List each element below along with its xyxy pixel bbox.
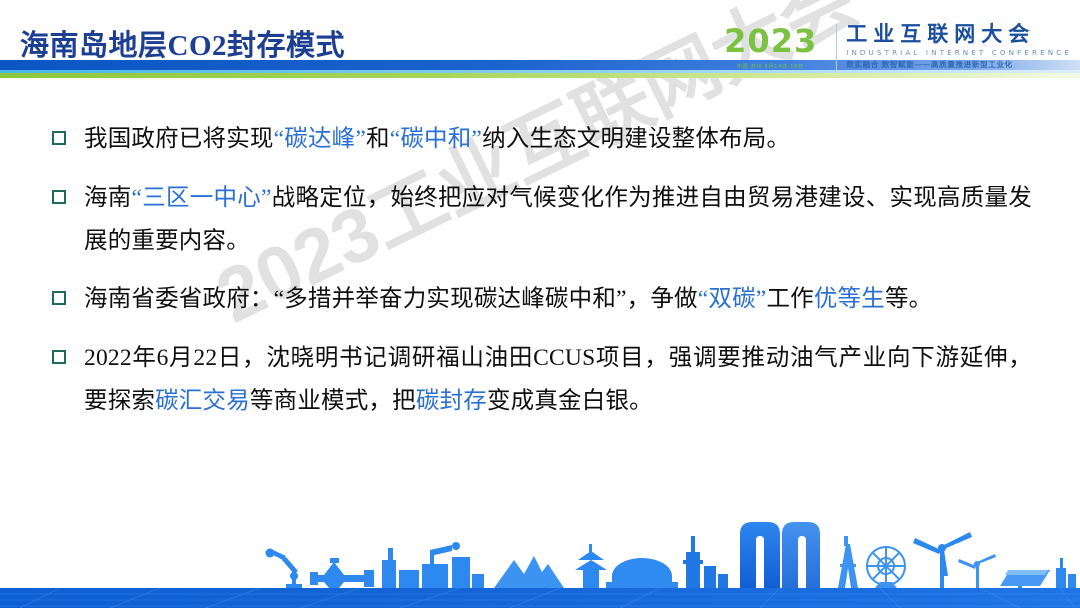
bullet-list: 我国政府已将实现“碳达峰”和“碳中和”纳入生态文明建设整体布局。海南“三区一中心…: [52, 118, 1032, 439]
bullet-highlight-text: “三区一中心”: [132, 185, 272, 211]
footer-skyline-graphic: [0, 512, 1080, 608]
logo-tagline: 数实融合 数智赋能——高质量推进新型工业化: [846, 59, 1072, 70]
eiffel-tower-icon: [838, 536, 858, 588]
storage-plant-icon: [1056, 558, 1076, 588]
bullet-item: 我国政府已将实现“碳达峰”和“碳中和”纳入生态文明建设整体布局。: [52, 118, 1032, 161]
tv-tower-icon: [683, 536, 728, 588]
bullet-item: 海南“三区一中心”战略定位，始终把应对气候变化作为推进自由贸易港建设、实现高质量…: [52, 177, 1032, 263]
logo-title-block: 工业互联网大会 INDUSTRIAL INTERNET CONFERENCE 数…: [846, 24, 1072, 70]
bullet-plain-text: 等商业模式，把: [250, 388, 416, 414]
logo-year: 2023: [724, 25, 817, 57]
solar-panel-icon: [1000, 570, 1050, 590]
bullet-plain-text: 等。: [885, 286, 932, 312]
bullet-text: 海南省委省政府：“多措并举奋力实现碳达峰碳中和”，争做“双碳”工作优等生等。: [84, 278, 1032, 321]
wind-turbine-icon: [913, 532, 972, 588]
logo-conference-name-en: INDUSTRIAL INTERNET CONFERENCE: [846, 48, 1072, 57]
bullet-text: 海南“三区一中心”战略定位，始终把应对气候变化作为推进自由贸易港建设、实现高质量…: [84, 177, 1032, 263]
logo-year-subtitle: 中国·苏州 8月14日-16日: [737, 62, 804, 70]
logo-divider: [836, 24, 837, 70]
bullet-highlight-text: “碳达峰”: [274, 126, 366, 152]
bullet-highlight-text: 碳封存: [416, 388, 487, 414]
ferris-wheel-icon: [867, 547, 905, 585]
footer-base-band: [0, 588, 1080, 608]
skyline-svg: [0, 512, 1080, 608]
bullet-plain-text: 变成真金白银。: [487, 388, 653, 414]
bullet-plain-text: 工作: [766, 286, 813, 312]
bullet-plain-text: 和: [366, 126, 390, 152]
robot-arm-icon: [266, 549, 303, 589]
bullet-plain-text: 我国政府已将实现: [84, 126, 274, 152]
dome-building-icon: [606, 558, 678, 588]
bullet-square-icon: [52, 131, 66, 145]
bullet-square-icon: [52, 190, 66, 204]
slide: 2023工业互联网大会 海南岛地层CO2封存模式 2023 中国·苏州 8月14…: [0, 0, 1080, 608]
bullet-highlight-text: 碳汇交易: [155, 388, 250, 414]
gate-of-the-orient-icon: [740, 522, 820, 588]
bullet-highlight-text: 优等生: [814, 286, 885, 312]
logo-conference-name-cn: 工业互联网大会: [846, 24, 1072, 46]
bullet-plain-text: 海南省委省政府：“多措并举奋力实现碳达峰碳中和”，争做: [84, 286, 698, 312]
slide-header: 海南岛地层CO2封存模式 2023 中国·苏州 8月14日-16日 工业互联网大…: [0, 0, 1080, 92]
wind-turbine-small-icon: [958, 554, 996, 588]
bullet-square-icon: [52, 350, 66, 364]
bullet-item: 2022年6月22日，沈晓明书记调研福山油田CCUS项目，强调要推动油气产业向下…: [52, 337, 1032, 423]
page-title: 海南岛地层CO2封存模式: [20, 22, 345, 64]
bullet-item: 海南省委省政府：“多措并举奋力实现碳达峰碳中和”，争做“双碳”工作优等生等。: [52, 278, 1032, 321]
bullet-highlight-text: “双碳”: [698, 286, 767, 312]
pagoda-icon: [575, 544, 607, 588]
bullet-plain-text: 海南: [84, 185, 132, 211]
mountain-range-icon: [494, 556, 564, 588]
bullet-square-icon: [52, 291, 66, 305]
bullet-text: 我国政府已将实现“碳达峰”和“碳中和”纳入生态文明建设整体布局。: [84, 118, 1032, 161]
logo-year-block: 2023 中国·苏州 8月14日-16日: [724, 25, 827, 70]
conference-logo: 2023 中国·苏州 8月14日-16日 工业互联网大会 INDUSTRIAL …: [724, 16, 1072, 78]
bullet-highlight-text: “碳中和”: [390, 126, 482, 152]
factory-icon: [382, 542, 484, 588]
bullet-text: 2022年6月22日，沈晓明书记调研福山油田CCUS项目，强调要推动油气产业向下…: [84, 337, 1032, 423]
bullet-plain-text: 纳入生态文明建设整体布局。: [482, 126, 790, 152]
